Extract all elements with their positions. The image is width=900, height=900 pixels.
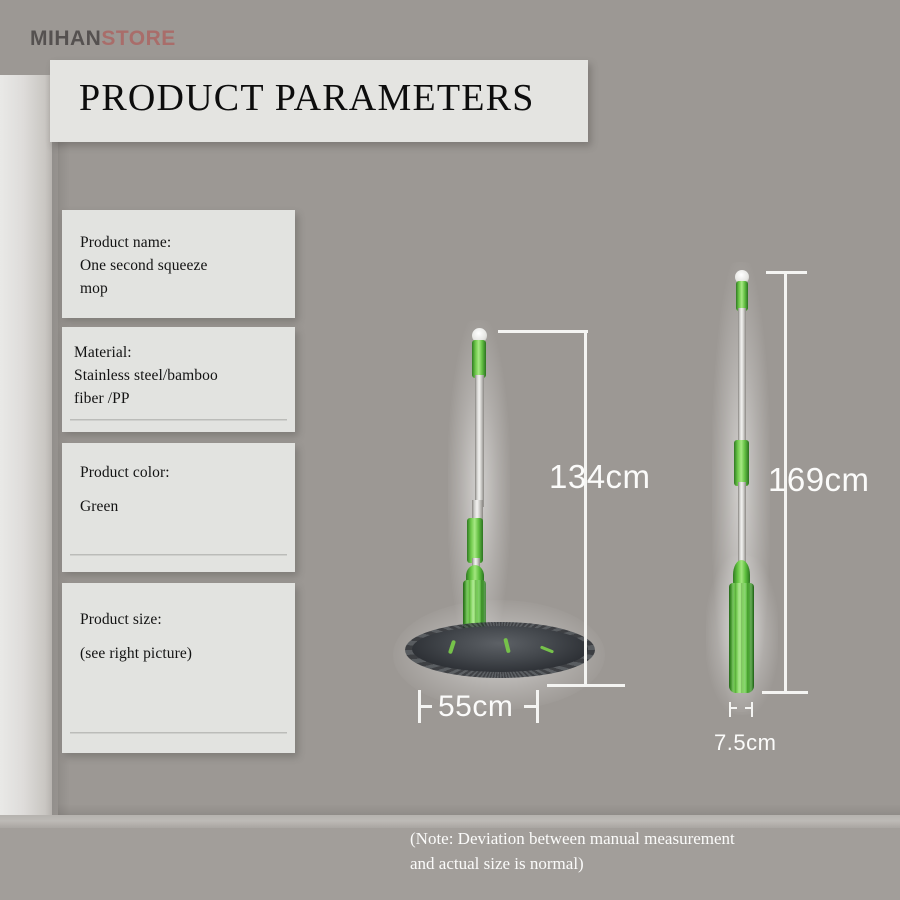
mop-lower-pole-right <box>738 482 746 567</box>
width-stub-left-end-right <box>729 707 737 709</box>
mop-top-grip-left <box>472 340 486 378</box>
left-edge-highlight-strip <box>0 75 58 820</box>
spec-card-color-rule <box>70 554 287 556</box>
mop-top-grip-right <box>736 281 748 311</box>
spec-label-product-name: Product name: <box>80 234 171 252</box>
mop-head-left <box>412 626 588 672</box>
spec-value-product-size: (see right picture) <box>80 645 192 663</box>
dimension-label-width-right: 7.5cm <box>714 730 776 756</box>
mop-mid-grip-left <box>467 518 483 563</box>
spec-card-material: Material: Stainless steel/bamboo fiber /… <box>62 327 295 432</box>
brand-logo-mihan: MIHAN <box>30 27 101 50</box>
dimension-label-height-left: 134cm <box>549 458 651 496</box>
mop-upper-pole-right <box>738 308 746 443</box>
dimension-tick-bottom-left <box>547 684 625 687</box>
dimension-tick-top-left <box>498 330 588 333</box>
width-tick-right-end-right <box>751 702 753 717</box>
spec-value-product-name-line1: One second squeeze <box>80 257 207 275</box>
spec-value-material-line1: Stainless steel/bamboo <box>74 367 218 385</box>
mop-mid-grip-right <box>734 440 749 486</box>
width-stub-right-end-left <box>524 705 539 708</box>
brand-logo-store: STORE <box>101 27 175 50</box>
brand-logo: MIHANSTORE <box>30 27 176 51</box>
spec-label-product-size: Product size: <box>80 611 162 629</box>
spec-card-product-size: Product size: (see right picture) <box>62 583 295 753</box>
spec-value-material-line2: fiber /PP <box>74 390 130 408</box>
mop-ribbed-handle-right <box>729 583 754 693</box>
mop-upper-pole-left <box>475 375 484 507</box>
footer-note-line1: (Note: Deviation between manual measurem… <box>410 826 880 851</box>
spec-label-product-color: Product color: <box>80 464 170 482</box>
spec-value-product-name-line2: mop <box>80 280 108 298</box>
width-stub-left-end-left <box>418 705 432 708</box>
width-stub-right-end-right <box>745 707 753 709</box>
dimension-label-width-left: 55cm <box>438 690 513 724</box>
spec-card-size-rule <box>70 732 287 734</box>
dimension-label-height-right: 169cm <box>768 461 870 499</box>
spec-card-product-name: Product name: One second squeeze mop <box>62 210 295 318</box>
spec-card-material-rule <box>70 419 287 421</box>
infographic-canvas: MIHANSTORE PRODUCT PARAMETERS Product na… <box>0 0 900 900</box>
page-title: PRODUCT PARAMETERS <box>79 76 535 120</box>
dimension-tick-bottom-right <box>762 691 808 694</box>
dimension-line-vertical-left <box>584 330 587 686</box>
spec-card-product-color: Product color: Green <box>62 443 295 572</box>
spec-label-material: Material: <box>74 344 132 362</box>
page-title-box: PRODUCT PARAMETERS <box>50 60 588 142</box>
width-tick-left-end-right <box>729 702 731 717</box>
footer-note: (Note: Deviation between manual measurem… <box>410 826 880 876</box>
footer-note-line2: and actual size is normal) <box>410 851 880 876</box>
spec-value-product-color: Green <box>80 498 118 516</box>
